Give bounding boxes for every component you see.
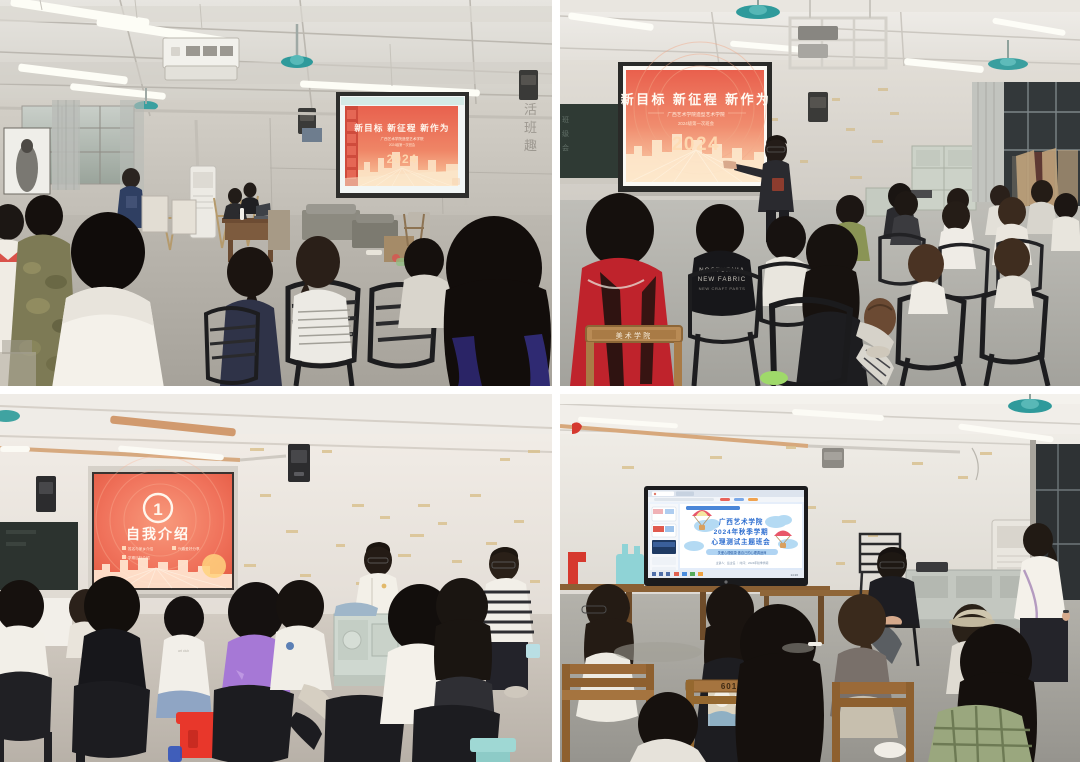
svg-text:NEW CRAFT PARTS: NEW CRAFT PARTS [699, 286, 746, 291]
svg-text:2024: 2024 [672, 134, 720, 155]
svg-text:心理测试主题班会: 心理测试主题班会 [711, 537, 770, 546]
photo-bottom-right: 广西艺术学院 2024年秋季学期 心理测试主题班会 关爱心理健康 做自己的心理调… [560, 394, 1080, 762]
svg-text:NEW FABRIC: NEW FABRIC [698, 276, 747, 283]
photo-bottom-left: 1 自我介绍 姓名与家乡介绍 兴趣爱好分享 学期目标介绍 [0, 394, 552, 762]
photo-top-right: 班级会 新目标 新征程 新作为 广西艺术学院造型艺术学院 [560, 0, 1080, 386]
svg-text:趣: 趣 [524, 138, 537, 153]
svg-text:2024: 2024 [387, 152, 418, 166]
svg-text:班: 班 [562, 115, 569, 124]
svg-text:活: 活 [524, 102, 537, 117]
photo-top-left: 活班趣 [0, 0, 552, 386]
svg-text:2024年秋季学期: 2024年秋季学期 [714, 527, 769, 536]
svg-text:14:26: 14:26 [790, 573, 798, 577]
photo-collage: 活班趣 [0, 0, 1080, 764]
svg-text:2024级第一次班会: 2024级第一次班会 [389, 142, 416, 147]
svg-text:art club: art club [178, 649, 189, 653]
svg-text:1: 1 [153, 500, 162, 519]
svg-text:班: 班 [524, 120, 537, 135]
tv-display: 广西艺术学院 2024年秋季学期 心理测试主题班会 关爱心理健康 做自己的心理调… [644, 486, 808, 586]
svg-text:新目标 新征程 新作为: 新目标 新征程 新作为 [354, 122, 449, 133]
projection-screen-top-left: 新目标 新征程 新作为 广西艺术学院造型艺术学院 2024级第一次班会 2024 [336, 92, 469, 198]
svg-text:主讲人：班主任 ｜ 时间：2024年秋季学期: 主讲人：班主任 ｜ 时间：2024年秋季学期 [716, 561, 769, 565]
svg-text:关爱心理健康 做自己的心理调适师: 关爱心理健康 做自己的心理调适师 [718, 550, 768, 555]
svg-text:会: 会 [562, 143, 569, 152]
svg-text:601: 601 [721, 682, 737, 691]
svg-text:广西艺术学院: 广西艺术学院 [719, 517, 763, 526]
svg-text:广西艺术学院造型艺术学院: 广西艺术学院造型艺术学院 [380, 136, 424, 141]
svg-text:广西艺术学院造型艺术学院: 广西艺术学院造型艺术学院 [667, 111, 725, 118]
svg-text:姓名与家乡介绍: 姓名与家乡介绍 [128, 546, 154, 551]
svg-text:兴趣爱好分享: 兴趣爱好分享 [178, 546, 200, 551]
svg-text:2024级第一次班会: 2024级第一次班会 [678, 120, 715, 127]
svg-text:级: 级 [562, 129, 569, 138]
svg-text:自我介绍: 自我介绍 [126, 526, 190, 542]
svg-text:新目标 新征程 新作为: 新目标 新征程 新作为 [621, 92, 772, 107]
svg-text:美术学院: 美术学院 [616, 331, 653, 340]
